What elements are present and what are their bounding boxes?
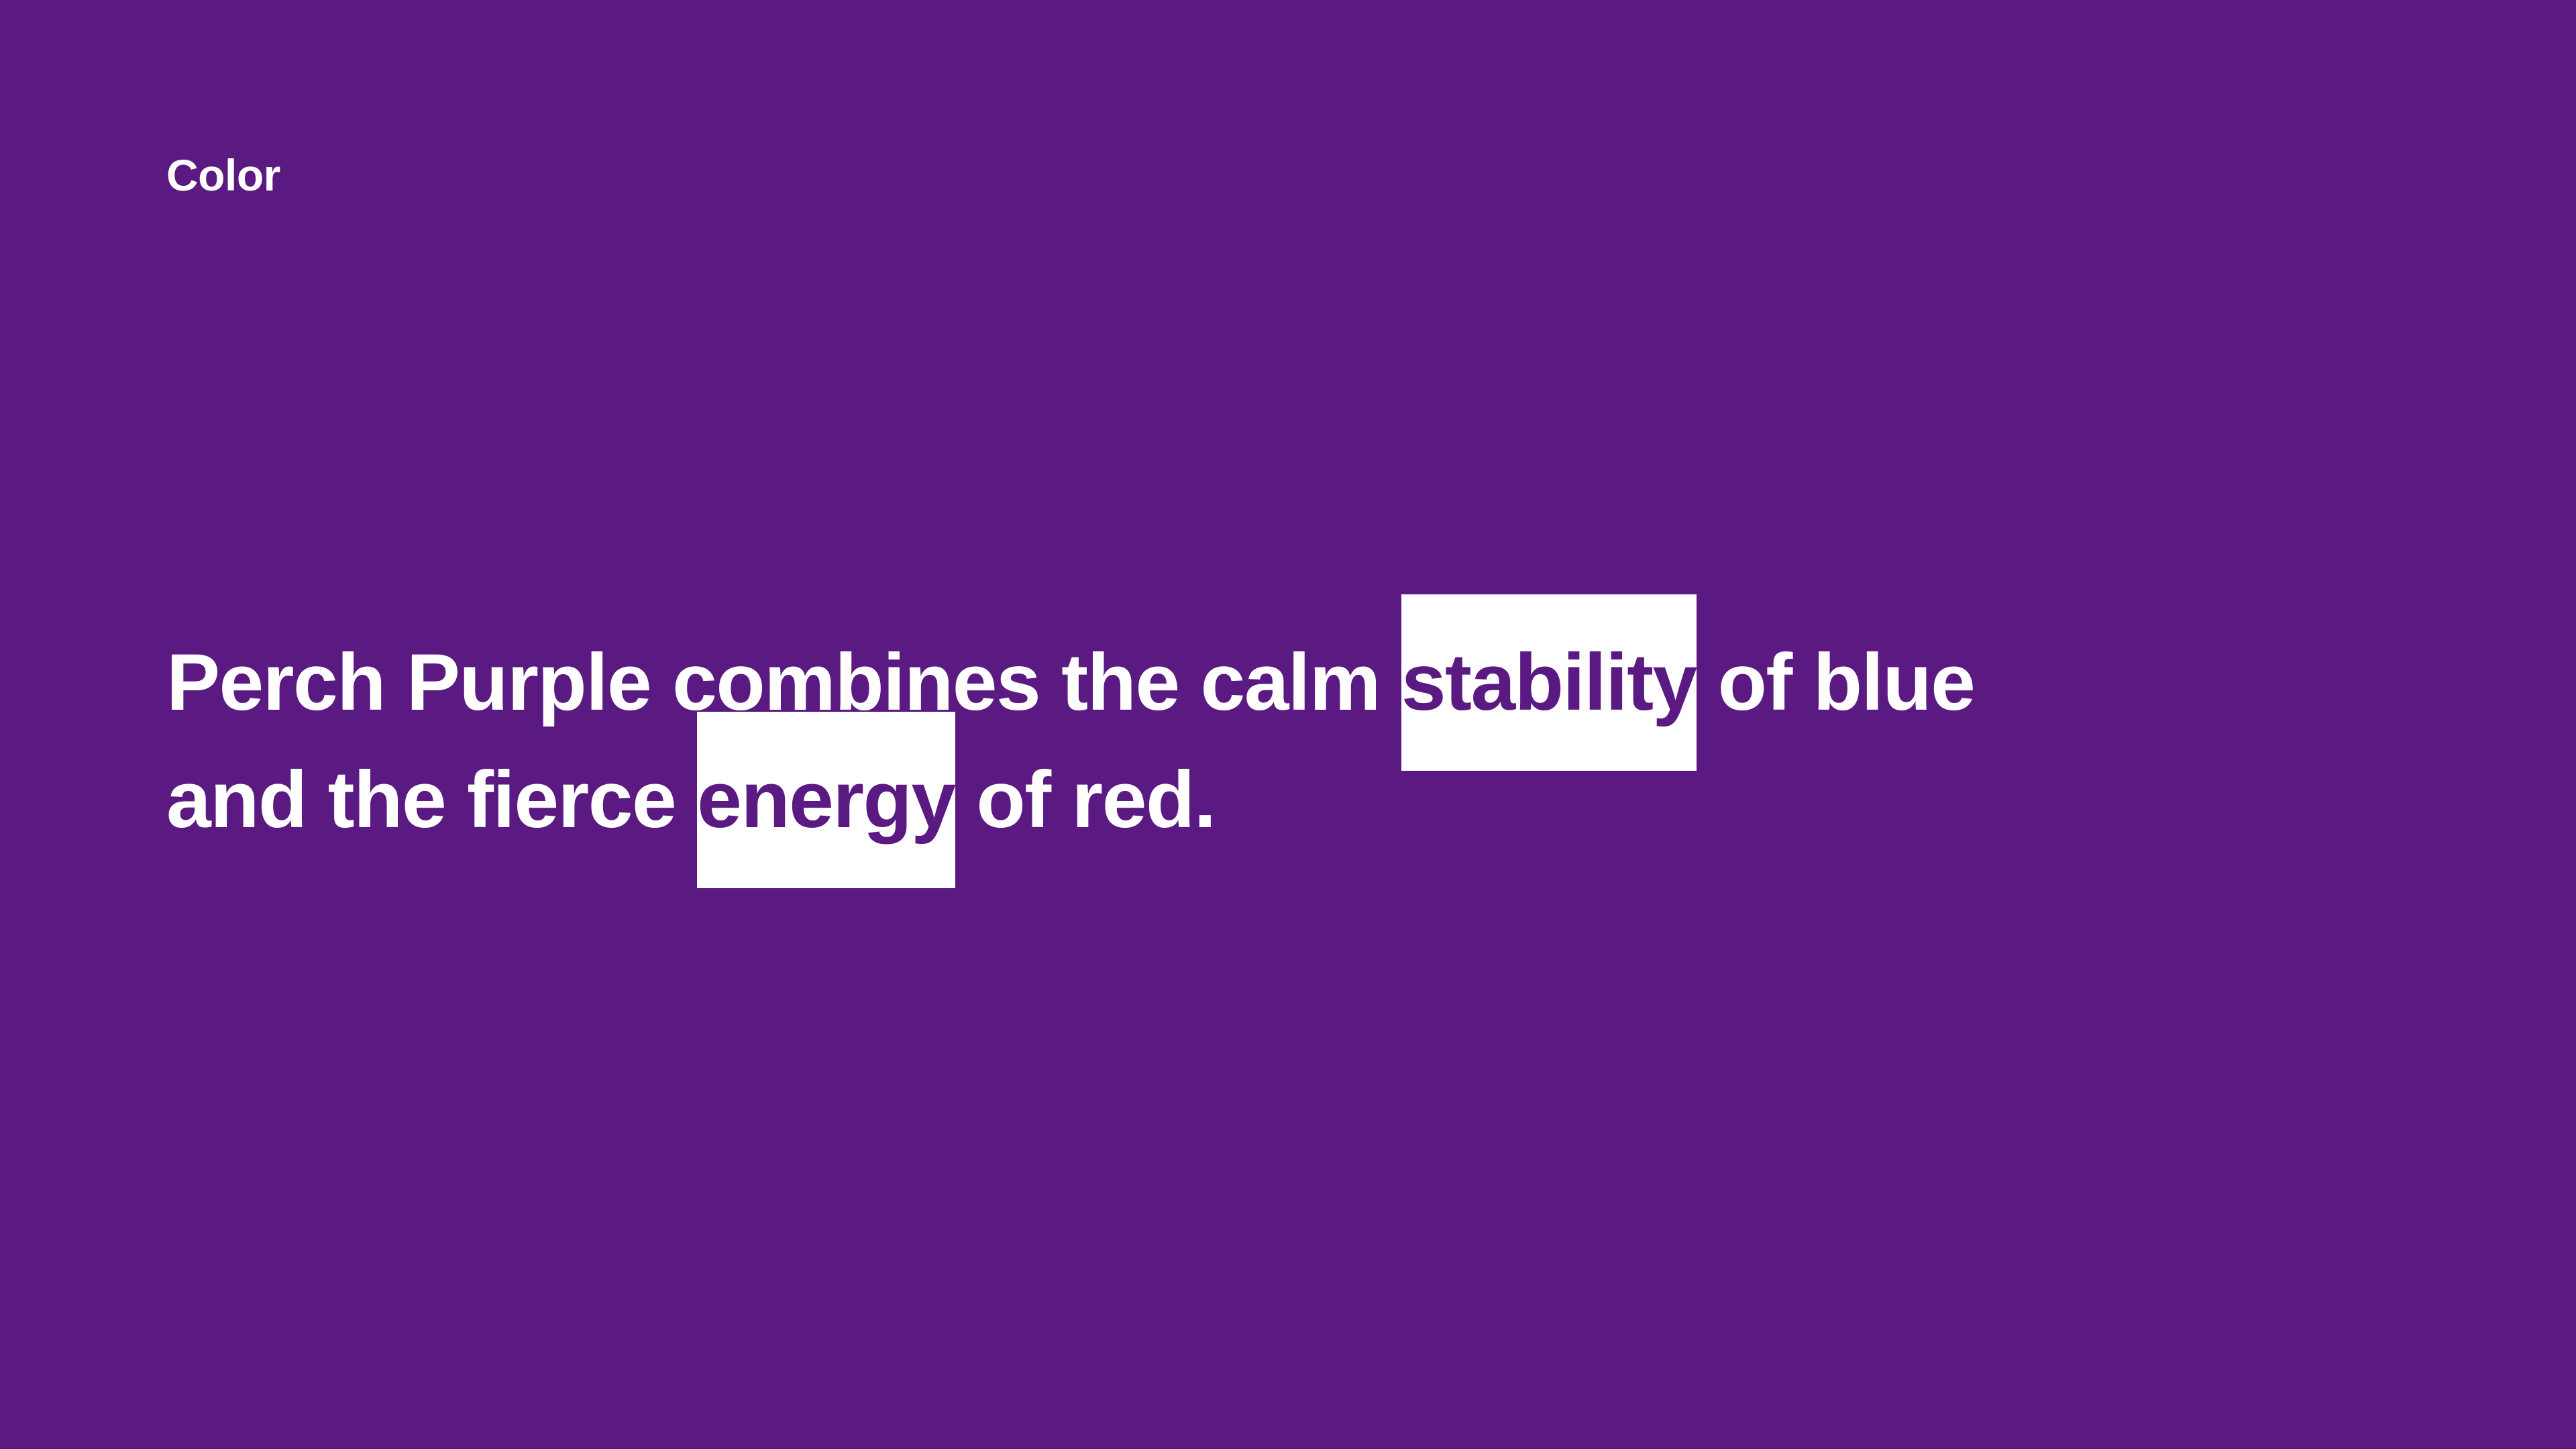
highlight-energy: energy: [697, 741, 955, 859]
headline-line-1: Perch Purple combines the calm stability…: [166, 624, 2447, 741]
headline-line-2-before: and the fierce: [166, 755, 697, 845]
highlight-stability: stability: [1401, 624, 1697, 741]
headline: Perch Purple combines the calm stability…: [166, 624, 2447, 859]
headline-line-2-after: of red.: [955, 755, 1216, 845]
highlight-stability-text: stability: [1401, 637, 1697, 727]
highlight-energy-text: energy: [697, 755, 955, 845]
headline-line-2: and the fierce energy of red.: [166, 741, 2447, 859]
section-label: Color: [166, 153, 280, 197]
slide-canvas: Color Perch Purple combines the calm sta…: [0, 0, 2576, 1449]
headline-line-1-after: of blue: [1697, 637, 1975, 727]
